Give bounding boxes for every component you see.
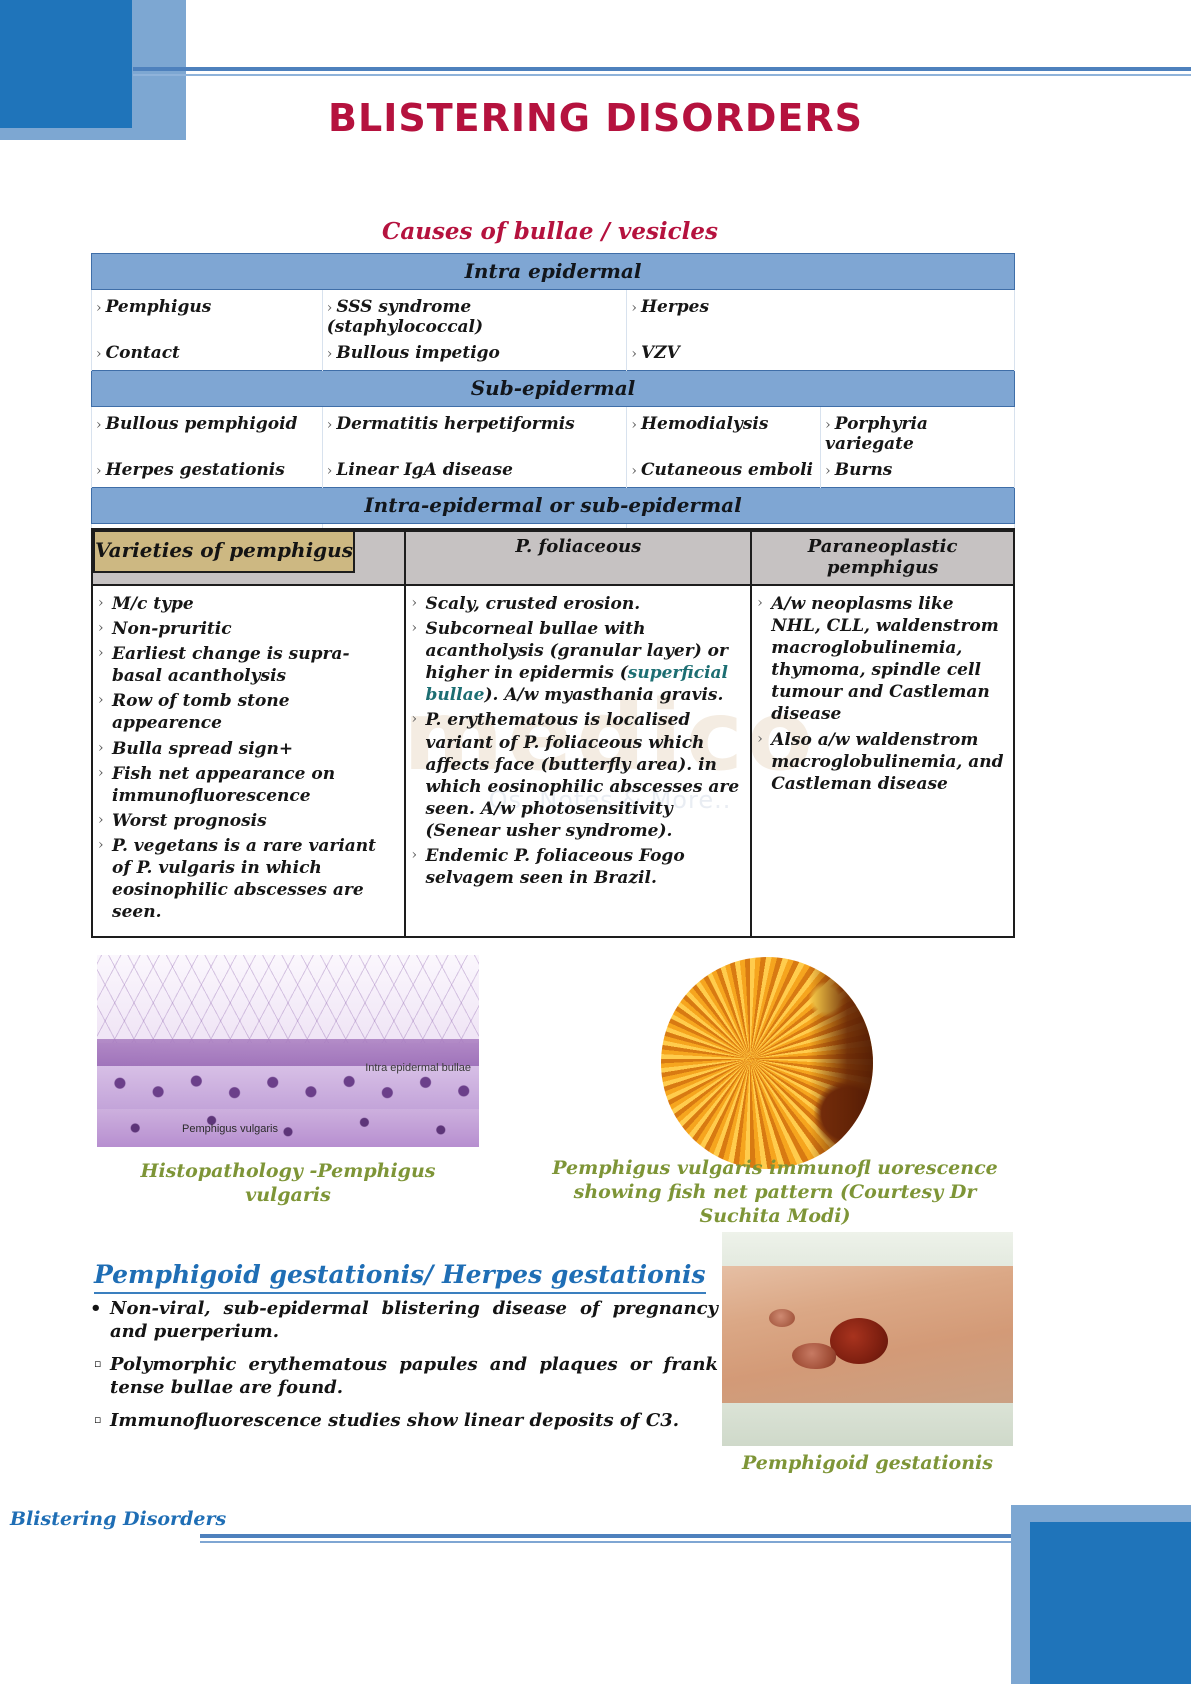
cell: ›Contact [92, 340, 323, 371]
list-item: ›Row of tomb stone appearence [98, 690, 396, 734]
chevron-icon: › [98, 836, 104, 854]
caption-immunofluorescence: Pemphigus vulgaris immunofl uorescence s… [530, 1157, 1020, 1228]
list-item-label: Bulla spread sign+ [112, 739, 293, 759]
section-heading-pemphigoid-gestationis: Pemphigoid gestationis/ Herpes gestation… [94, 1260, 706, 1294]
table-row: ›Herpes gestationis ›Linear IgA disease … [92, 457, 1015, 488]
list-item-label: Non-viral, sub-epidermal blistering dise… [110, 1298, 718, 1342]
list-item: ›P. vegetans is a rare variant of P. vul… [98, 835, 396, 923]
col-header-paraneoplastic: Paraneoplastic pemphigus [751, 531, 1014, 585]
list-item: ›Bulla spread sign+ [98, 738, 396, 760]
col-header-p-foliaceous: P. foliaceous [405, 531, 751, 585]
cell: ›Pemphigus [92, 290, 323, 341]
caption-pemphigoid-gestationis: Pemphigoid gestationis [722, 1452, 1013, 1476]
immunofluorescence-image [661, 957, 873, 1169]
chevron-icon: › [98, 739, 104, 757]
cell-label: Porphyria variegate [825, 414, 928, 454]
list-item: ›Scaly, crusted erosion. [411, 593, 742, 615]
cell: ›Dermatitis herpetiformis [322, 407, 627, 458]
list-item: ▫ Immunofluorescence studies show linear… [86, 1409, 718, 1432]
cell-label: Cutaneous emboli [641, 460, 813, 480]
list-item-label: M/c type [112, 594, 194, 614]
list-item-label: Polymorphic erythematous papules and pla… [110, 1354, 718, 1398]
table-band-row: Intra epidermal [92, 254, 1015, 290]
chevron-icon: › [631, 417, 641, 433]
table-caption-row: Varieties of pemphigus [93, 530, 355, 573]
cell-p-vulgaris: ›M/c type ›Non-pruritic ›Earliest change… [92, 585, 405, 937]
chevron-icon: › [98, 594, 104, 612]
chevron-icon: › [98, 619, 104, 637]
pemphigoid-gestationis-bullet-list: • Non-viral, sub-epidermal blistering di… [86, 1297, 718, 1441]
list-item-label: P. erythematous is localised variant of … [425, 710, 739, 840]
chevron-icon: › [327, 463, 337, 479]
cell: ›SSS syndrome (staphylococcal) [322, 290, 627, 341]
band-intra-or-sub-epidermal: Intra-epidermal or sub-epidermal [92, 488, 1015, 524]
cell-label: Burns [835, 460, 893, 480]
cell-label: Herpes [641, 297, 709, 317]
pg-sheet-bottom [722, 1403, 1013, 1446]
footer-label: Blistering Disorders [10, 1508, 226, 1530]
cell: ›Herpes [627, 290, 1015, 341]
list-item: ›Fish net appearance on immunofluorescen… [98, 763, 396, 807]
chevron-icon: › [98, 644, 104, 662]
list-item-label: Worst prognosis [112, 811, 267, 831]
list-item-label: Endemic P. foliaceous Fogo selvagem seen… [425, 846, 684, 888]
chevron-icon: › [96, 463, 106, 479]
chevron-icon: › [98, 691, 104, 709]
band-sub-epidermal: Sub-epidermal [92, 371, 1015, 407]
list-item-label: P. vegetans is a rare variant of P. vulg… [112, 836, 376, 922]
chevron-icon: › [327, 417, 337, 433]
list-item-label: Also a/w waldenstrom macroglobulinemia, … [771, 730, 1003, 794]
list-item-label: Scaly, crusted erosion. [425, 594, 640, 614]
list-item: ›Non-pruritic [98, 618, 396, 640]
band-intra-epidermal: Intra epidermal [92, 254, 1015, 290]
cell-label: Hemodialysis [641, 414, 769, 434]
list-item-label: Fish net appearance on immunofluorescenc… [112, 764, 335, 806]
chevron-icon: › [327, 300, 337, 316]
list-item-label: Row of tomb stone appearence [112, 691, 290, 733]
cell-label: Bullous impetigo [336, 343, 500, 363]
cell-label: SSS syndrome (staphylococcal) [327, 297, 483, 337]
chevron-icon: › [631, 346, 641, 362]
chevron-icon: › [96, 300, 106, 316]
cell-label: VZV [641, 343, 680, 363]
list-item: ›Worst prognosis [98, 810, 396, 832]
chevron-icon: › [757, 594, 763, 612]
list-item: ›Subcorneal bullae with acantholysis (gr… [411, 618, 742, 706]
caption-if-line1: Pemphigus vulgaris immunofl uorescence [552, 1157, 997, 1179]
table-row: ›Pemphigus ›SSS syndrome (staphylococcal… [92, 290, 1015, 341]
chevron-icon: › [825, 463, 835, 479]
list-item-label: A/w neoplasms like NHL, CLL, waldenstrom… [771, 594, 999, 724]
caption-if-line2: showing fish net pattern (Courtesy Dr Su… [574, 1181, 977, 1227]
chevron-icon: › [327, 346, 337, 362]
pg-lesion-major [830, 1318, 888, 1364]
chevron-icon: › [98, 764, 104, 782]
chevron-icon: › [411, 846, 417, 864]
chevron-icon: › [98, 811, 104, 829]
list-item: ›Earliest change is supra-basal acanthol… [98, 643, 396, 687]
pg-sheet-top [722, 1232, 1013, 1271]
table-band-row: Sub-epidermal [92, 371, 1015, 407]
list-item-label-post: ). A/w myasthania gravis. [484, 685, 723, 705]
histo-label-intra-epidermal-bullae: Intra epidermal bullae [365, 1062, 471, 1074]
cell: ›Bullous impetigo [322, 340, 627, 371]
chevron-icon: › [411, 594, 417, 612]
footer-rule-thin [200, 1541, 1080, 1543]
cell: ›Cutaneous emboli [627, 457, 821, 488]
varieties-of-pemphigus-table: Varieties of pemphigus P. vulgaris P. fo… [91, 528, 1015, 938]
chevron-icon: › [631, 463, 641, 479]
chevron-icon: › [96, 417, 106, 433]
cell-label: Pemphigus [106, 297, 212, 317]
if-dark-edge [809, 957, 873, 1169]
list-item: ›Also a/w waldenstrom macroglobulinemia,… [757, 729, 1005, 795]
cell: ›Burns [821, 457, 1015, 488]
list-item: ▫ Polymorphic erythematous papules and p… [86, 1353, 718, 1400]
cell: ›Hemodialysis [627, 407, 821, 458]
page-title: BLISTERING DISORDERS [0, 96, 1191, 140]
histopathology-image: Intra epidermal bullae Pemphigus vulgari… [97, 955, 479, 1147]
list-item-label: Immunofluorescence studies show linear d… [110, 1410, 679, 1431]
bullet-square-icon: ▫ [94, 1413, 101, 1427]
cell-label: Linear IgA disease [336, 460, 513, 480]
cell-label: Bullous pemphigoid [106, 414, 298, 434]
table-body-row: ›M/c type ›Non-pruritic ›Earliest change… [92, 585, 1014, 937]
varieties-caption: Varieties of pemphigus [94, 531, 354, 572]
cell: ›Porphyria variegate [821, 407, 1015, 458]
footer-rule-thick [200, 1534, 1080, 1538]
pg-lesion-small [769, 1309, 795, 1327]
cell: ›Bullous pemphigoid [92, 407, 323, 458]
causes-table-title: Causes of bullae / vesicles [0, 218, 1100, 245]
histo-upper-layer [97, 955, 479, 1043]
chevron-icon: › [411, 619, 417, 637]
table-band-row: Intra-epidermal or sub-epidermal [92, 488, 1015, 524]
footer-decor-square-inner [1030, 1522, 1191, 1684]
cell-label: Dermatitis herpetiformis [336, 414, 574, 434]
pemphigoid-gestationis-image [722, 1232, 1013, 1446]
header-rule-thin [133, 74, 1191, 76]
cell: ›VZV [627, 340, 1015, 371]
cell-paraneoplastic: ›A/w neoplasms like NHL, CLL, waldenstro… [751, 585, 1014, 937]
cell: ›Linear IgA disease [322, 457, 627, 488]
causes-of-bullae-table: Intra epidermal ›Pemphigus ›SSS syndrome… [91, 253, 1015, 559]
list-item: ›M/c type [98, 593, 396, 615]
cell-p-foliaceous: ›Scaly, crusted erosion. ›Subcorneal bul… [405, 585, 751, 937]
histo-label-pemphigus-vulgaris: Pemphigus vulgaris [182, 1123, 278, 1135]
list-item-label: Non-pruritic [112, 619, 232, 639]
list-item: ›P. erythematous is localised variant of… [411, 709, 742, 842]
cell-label: Herpes gestationis [106, 460, 285, 480]
list-item: ›A/w neoplasms like NHL, CLL, waldenstro… [757, 593, 1005, 726]
table-row: ›Contact ›Bullous impetigo ›VZV [92, 340, 1015, 371]
table-row: ›Bullous pemphigoid ›Dermatitis herpetif… [92, 407, 1015, 458]
pg-lesion-minor [792, 1343, 836, 1369]
cell-label: Contact [106, 343, 180, 363]
bullet-square-icon: ▫ [94, 1357, 101, 1371]
chevron-icon: › [757, 730, 763, 748]
cell: ›Herpes gestationis [92, 457, 323, 488]
list-item: ›Endemic P. foliaceous Fogo selvagem see… [411, 845, 742, 889]
histo-dermis-layer [97, 1109, 479, 1147]
chevron-icon: › [631, 300, 641, 316]
list-item-label: Earliest change is supra-basal acantholy… [112, 644, 350, 686]
header-rule-thick [133, 67, 1191, 71]
chevron-icon: › [411, 710, 417, 728]
bullet-dot-icon: • [90, 1297, 102, 1320]
chevron-icon: › [825, 417, 835, 433]
chevron-icon: › [96, 346, 106, 362]
caption-histopathology: Histopathology -Pemphigus vulgaris [97, 1160, 479, 1208]
list-item: • Non-viral, sub-epidermal blistering di… [86, 1297, 718, 1344]
